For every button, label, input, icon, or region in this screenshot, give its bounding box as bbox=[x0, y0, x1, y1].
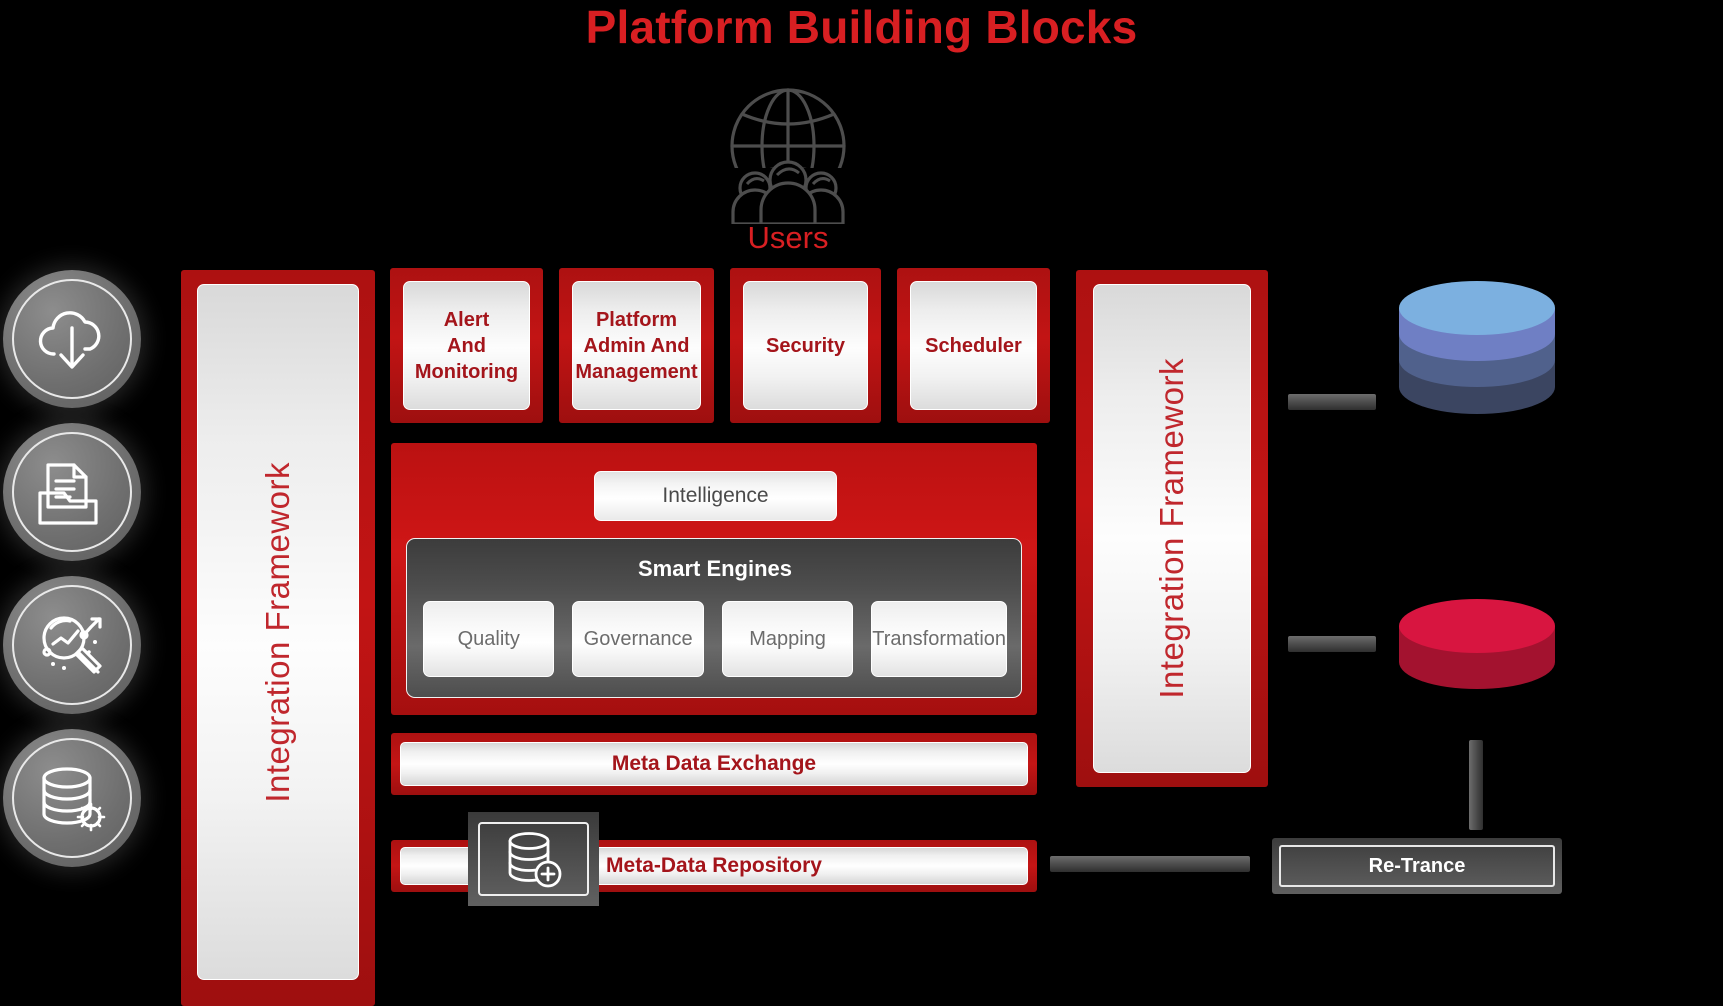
blue-database-cylinder bbox=[1392, 272, 1562, 462]
top-box-scheduler[interactable]: Scheduler bbox=[897, 268, 1050, 423]
smart-engines-title: Smart Engines bbox=[407, 556, 1023, 582]
intelligence-box[interactable]: Intelligence bbox=[594, 471, 837, 521]
data-discovery-magnifier-icon bbox=[29, 604, 115, 686]
engine-chip-transformation[interactable]: Transformation bbox=[871, 601, 1007, 677]
rail-item-documents[interactable] bbox=[3, 423, 141, 561]
top-box-label: AlertAndMonitoring bbox=[415, 307, 518, 385]
users-group: Users bbox=[708, 84, 868, 259]
smart-engines-list: Quality Governance Mapping Transformatio… bbox=[423, 601, 1007, 677]
diagram-canvas: Platform Building Blocks User bbox=[0, 0, 1723, 1006]
engine-chip-mapping[interactable]: Mapping bbox=[722, 601, 853, 677]
retrance-label: Re-Trance bbox=[1279, 845, 1555, 887]
engine-chip-quality[interactable]: Quality bbox=[423, 601, 554, 677]
database-add-glyph bbox=[498, 828, 570, 890]
database-add-icon[interactable] bbox=[468, 812, 599, 906]
left-integration-framework-label: Integration Framework bbox=[259, 462, 297, 803]
connector-to-retrance bbox=[1050, 856, 1250, 872]
engine-chip-governance[interactable]: Governance bbox=[572, 601, 703, 677]
globe-users-icon bbox=[708, 84, 868, 224]
document-folder-icon bbox=[30, 453, 114, 531]
rail-item-cloud-download[interactable] bbox=[3, 270, 141, 408]
connector-retrance-vertical bbox=[1469, 740, 1483, 830]
intelligence-panel: Intelligence Smart Engines Quality Gover… bbox=[391, 443, 1037, 715]
rail-item-database-settings[interactable] bbox=[3, 729, 141, 867]
retrance-box[interactable]: Re-Trance bbox=[1272, 838, 1562, 894]
meta-data-exchange-bar[interactable]: Meta Data Exchange bbox=[391, 733, 1037, 795]
left-integration-framework-panel: Integration Framework bbox=[181, 270, 375, 1006]
cloud-download-icon bbox=[30, 302, 114, 376]
smart-engines-panel: Smart Engines Quality Governance Mapping… bbox=[406, 538, 1022, 698]
users-label: Users bbox=[708, 220, 868, 256]
connector-to-red-store bbox=[1288, 636, 1376, 652]
top-box-label: Scheduler bbox=[925, 333, 1022, 359]
right-integration-framework-panel: Integration Framework bbox=[1076, 270, 1268, 787]
rail-item-data-discovery[interactable] bbox=[3, 576, 141, 714]
top-box-security[interactable]: Security bbox=[730, 268, 881, 423]
top-box-label: PlatformAdmin AndManagement bbox=[575, 307, 697, 385]
right-integration-framework-label: Integration Framework bbox=[1153, 358, 1191, 699]
database-settings-icon bbox=[31, 760, 113, 836]
top-box-alert-and-monitoring[interactable]: AlertAndMonitoring bbox=[390, 268, 543, 423]
top-box-platform-admin-and-management[interactable]: PlatformAdmin AndManagement bbox=[559, 268, 714, 423]
connector-to-blue-store bbox=[1288, 394, 1376, 410]
page-title: Platform Building Blocks bbox=[0, 0, 1723, 56]
top-box-label: Security bbox=[766, 333, 845, 359]
meta-data-exchange-label: Meta Data Exchange bbox=[400, 742, 1028, 786]
red-database-cylinder bbox=[1392, 592, 1562, 712]
